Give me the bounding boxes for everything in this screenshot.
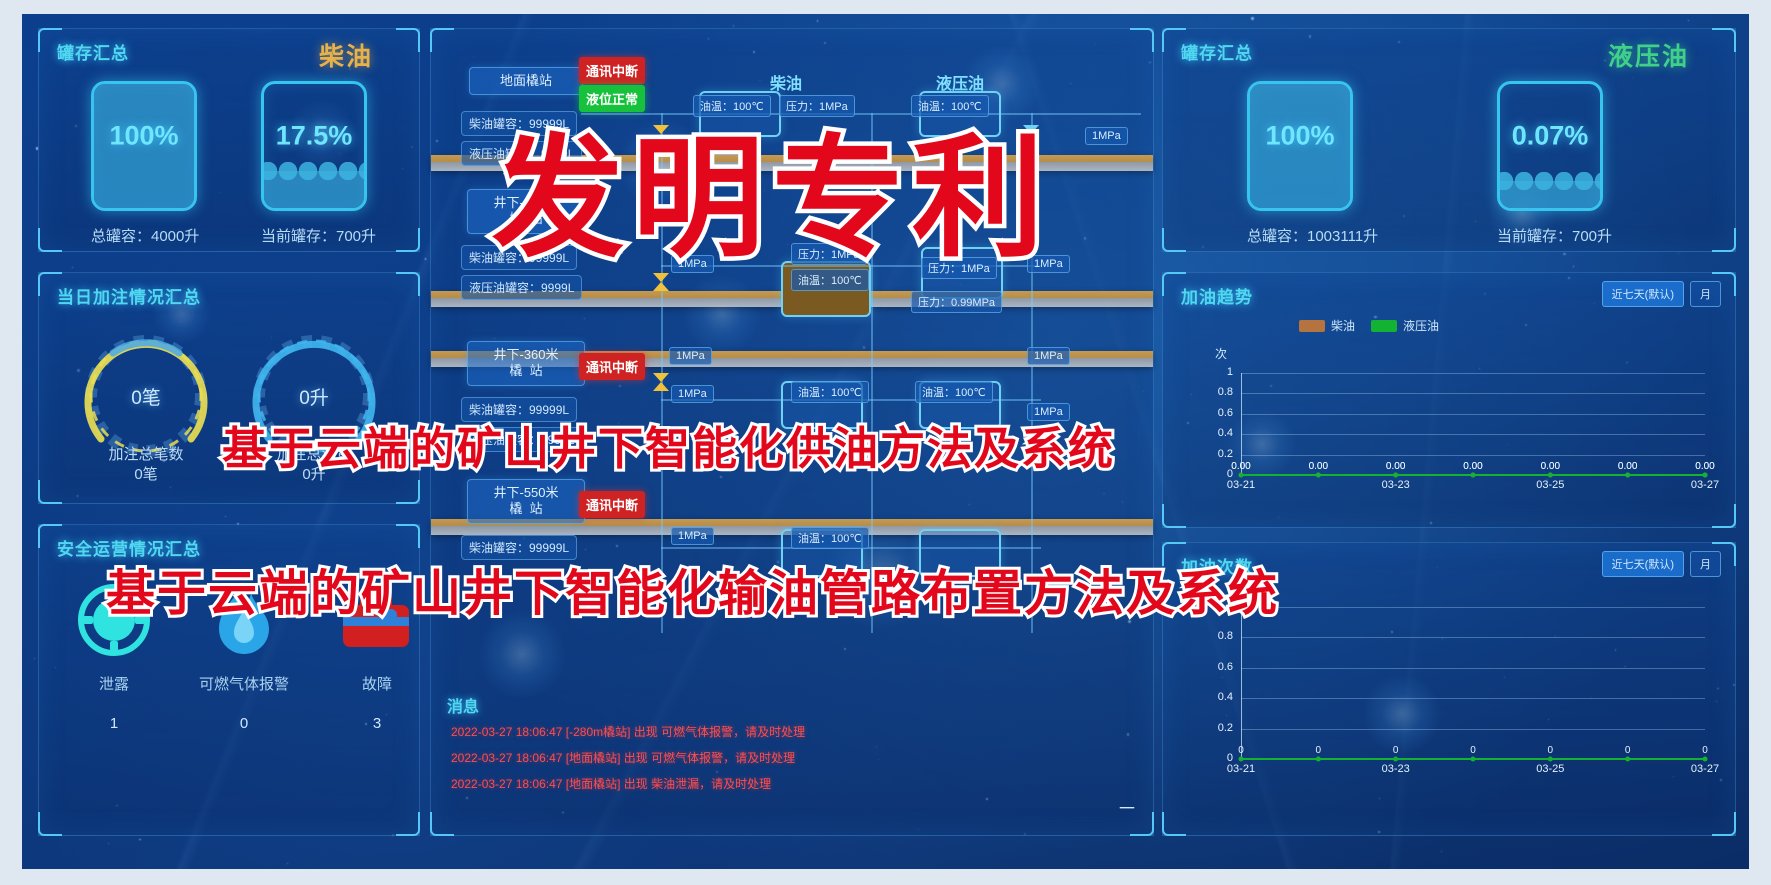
- safety-count-leak: 1: [44, 715, 184, 732]
- status-badge-comm-interrupt: 通讯中断: [579, 57, 645, 84]
- total-tank-gauge: 100% 总罐容：4000升: [91, 81, 199, 246]
- pressure-chip-5: 1MPa: [1027, 347, 1070, 365]
- current-tank-gauge: 0.07% 当前罐存：700升: [1497, 81, 1612, 246]
- message-log-line: 2022-03-27 18:06:47 [-280m橇站] 出现 可燃气体报警，…: [451, 723, 805, 740]
- tank-percent-value: 100%: [1250, 121, 1350, 152]
- corner-decoration: [396, 228, 420, 252]
- message-log-line: 2022-03-27 18:06:47 [地面橇站] 出现 可燃气体报警，请及时…: [451, 749, 795, 766]
- legend-swatch-diesel: [1299, 320, 1325, 332]
- refuel-count-caption: 加注总笔数 0笔: [61, 445, 231, 486]
- safety-count-fault: 3: [307, 715, 447, 732]
- safety-label-fault: 故障: [307, 673, 447, 694]
- refuel-trend-chart-panel: 加油趋势 近七天(默认) 月 柴油 液压油 次 00.20.40.60.810.…: [1162, 272, 1736, 528]
- tank-percent-value: 0.07%: [1500, 121, 1600, 152]
- tank-fill: [264, 171, 364, 208]
- legend-swatch-hydraulic: [1371, 320, 1397, 332]
- right-tank-summary-panel: 罐存汇总 液压油 100% 总罐容：1003111升 0.07% 当前罐存：70…: [1162, 28, 1736, 252]
- range-button-month[interactable]: 月: [1690, 281, 1721, 307]
- tank-stock-label: 当前罐存：700升: [261, 225, 376, 246]
- tank-shape: 100%: [91, 81, 197, 211]
- chart-point-label: 0: [1462, 745, 1484, 756]
- chart-point-label: 0.00: [1462, 461, 1484, 472]
- corner-decoration: [1712, 504, 1736, 528]
- x-axis-tick: 03-25: [1527, 763, 1573, 775]
- x-axis-tick: 03-27: [1682, 763, 1728, 775]
- readout-pressure-3: 压力：0.99MPa: [911, 291, 1002, 313]
- corner-decoration: [1162, 228, 1186, 252]
- tank-percent-value: 100%: [94, 121, 194, 152]
- chart-point-label: 0.00: [1539, 461, 1561, 472]
- station-name-550m[interactable]: 井下-550米橇 站: [467, 479, 585, 524]
- pressure-chip-4: 1MPa: [669, 347, 712, 365]
- readout-oil-temp-5: 油温：100℃: [791, 381, 869, 403]
- readout-oil-temp-6: 油温：100℃: [915, 381, 993, 403]
- trend-range-buttons: 近七天(默认) 月: [1602, 281, 1721, 307]
- watermark-patent-title: 发明专利: [492, 92, 1052, 283]
- status-badge-comm-interrupt-550m: 通讯中断: [579, 491, 645, 518]
- x-axis-tick: 03-25: [1527, 479, 1573, 491]
- tank-shape: 0.07%: [1497, 81, 1603, 211]
- chart-point-label: 0: [1694, 745, 1716, 756]
- panel-title: 罐存汇总: [57, 39, 129, 64]
- x-axis-tick: 03-23: [1373, 763, 1419, 775]
- pressure-chip-8: 1MPa: [671, 527, 714, 545]
- corner-decoration: [1712, 28, 1736, 52]
- corner-decoration: [396, 272, 420, 296]
- chart-point-label: 0.00: [1230, 461, 1252, 472]
- pressure-chip-1: 1MPa: [1085, 127, 1128, 145]
- tank-percent-value: 17.5%: [264, 121, 364, 152]
- screenshot-stage: 罐存汇总 柴油 100% 总罐容：4000升 17.5% 当前罐存：700升: [0, 0, 1771, 885]
- count-chart-plot: 00.20.40.60.81000000003-2103-2303-2503-2…: [1207, 599, 1713, 781]
- chart-point-label: 0: [1230, 745, 1252, 756]
- legend-label-diesel: 柴油: [1331, 317, 1355, 334]
- chart-point-label: 0: [1307, 745, 1329, 756]
- chart-point-label: 0.00: [1307, 461, 1329, 472]
- trend-legend: 柴油 液压油: [1299, 317, 1439, 334]
- trend-chart-plot: 00.20.40.60.810.000.000.000.000.000.000.…: [1207, 365, 1713, 497]
- safety-label-gas-alarm: 可燃气体报警: [174, 673, 314, 694]
- corner-decoration: [396, 812, 420, 836]
- legend-label-hydraulic: 液压油: [1403, 317, 1439, 334]
- chart-point-label: 0.00: [1694, 461, 1716, 472]
- watermark-patent-line-2: 基于云端的矿山井下智能化输油管路布置方法及系统: [106, 554, 1279, 625]
- station-name-360m[interactable]: 井下-360米橇 站: [467, 341, 585, 386]
- total-tank-gauge: 100% 总罐容：1003111升: [1247, 81, 1378, 246]
- left-tank-summary-panel: 罐存汇总 柴油 100% 总罐容：4000升 17.5% 当前罐存：700升: [38, 28, 420, 252]
- panel-title: 当日加注情况汇总: [57, 283, 201, 308]
- message-log-title: 消息: [447, 693, 479, 717]
- corner-decoration: [1712, 228, 1736, 252]
- tank-capacity-label: 总罐容：4000升: [91, 225, 199, 246]
- corner-decoration: [1162, 812, 1186, 836]
- current-tank-gauge: 17.5% 当前罐存：700升: [261, 81, 376, 246]
- status-badge-comm-interrupt-360m: 通讯中断: [579, 353, 645, 380]
- chart-point-label: 0.00: [1385, 461, 1407, 472]
- corner-decoration: [38, 812, 62, 836]
- pressure-chip-6: 1MPa: [671, 385, 714, 403]
- tank-capacity-label: 总罐容：1003111升: [1247, 225, 1378, 246]
- tank-fill: [1500, 181, 1600, 208]
- range-button-seven-days[interactable]: 近七天(默认): [1602, 281, 1684, 307]
- tank-shape: 100%: [1247, 81, 1353, 211]
- station-name-surface[interactable]: 地面橇站: [469, 67, 583, 95]
- x-axis-tick: 03-27: [1682, 479, 1728, 491]
- caption-line-1: 加注总笔数: [108, 446, 183, 463]
- corner-decoration: [430, 28, 454, 52]
- watermark-patent-line-1: 基于云端的矿山井下智能化供油方法及系统: [222, 412, 1115, 477]
- panel-title: 加油趋势: [1181, 283, 1253, 308]
- corner-decoration: [396, 480, 420, 504]
- chart-point-label: 0.00: [1617, 461, 1639, 472]
- corner-decoration: [38, 480, 62, 504]
- x-axis-tick: 03-21: [1218, 479, 1264, 491]
- chart-point-label: 0: [1617, 745, 1639, 756]
- x-axis-tick: 03-23: [1373, 479, 1419, 491]
- corner-decoration: [396, 524, 420, 548]
- product-name-hydraulic: 液压油: [1608, 37, 1689, 73]
- corner-decoration: [1712, 812, 1736, 836]
- message-log-panel: 消息 2022-03-27 18:06:47 [-280m橇站] 出现 可燃气体…: [431, 685, 1147, 835]
- readout-oil-temp-7: 油温：100℃: [791, 527, 869, 549]
- corner-decoration: [1162, 504, 1186, 528]
- tank-shape: 17.5%: [261, 81, 367, 211]
- y-axis-unit-label: 次: [1215, 345, 1227, 362]
- dashboard-screen: 罐存汇总 柴油 100% 总罐容：4000升 17.5% 当前罐存：700升: [22, 14, 1749, 869]
- x-axis-tick: 03-21: [1218, 763, 1264, 775]
- caption-line-2: 0笔: [134, 466, 157, 483]
- panel-title: 罐存汇总: [1181, 39, 1253, 64]
- count-range-buttons: 近七天(默认) 月: [1602, 551, 1721, 577]
- corner-decoration: [1130, 28, 1154, 52]
- corner-decoration: [396, 28, 420, 52]
- range-button-month[interactable]: 月: [1690, 551, 1721, 577]
- legend-item-diesel[interactable]: 柴油: [1299, 317, 1355, 334]
- range-button-seven-days[interactable]: 近七天(默认): [1602, 551, 1684, 577]
- chart-series-液压油: [1207, 365, 1713, 497]
- tank-stock-label: 当前罐存：700升: [1497, 225, 1612, 246]
- product-name-diesel: 柴油: [319, 37, 373, 73]
- legend-item-hydraulic[interactable]: 液压油: [1371, 317, 1439, 334]
- corner-decoration: [38, 228, 62, 252]
- safety-label-leak: 泄露: [44, 673, 184, 694]
- chart-point-label: 0: [1385, 745, 1407, 756]
- chart-point-label: 0: [1539, 745, 1561, 756]
- message-log-line: 2022-03-27 18:06:47 [地面橇站] 出现 柴油泄漏，请及时处理: [451, 775, 771, 792]
- safety-count-gas-alarm: 0: [174, 715, 314, 732]
